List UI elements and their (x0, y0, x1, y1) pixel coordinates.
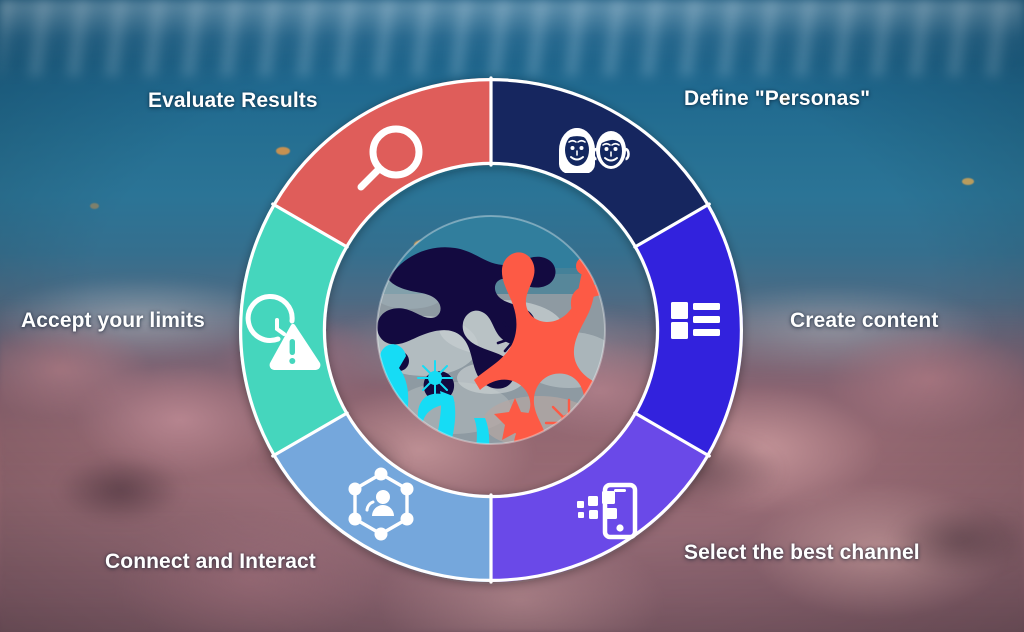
label-select-best-channel: Select the best channel (684, 541, 920, 565)
label-connect-and-interact: Connect and Interact (105, 550, 316, 574)
label-create-content: Create content (790, 309, 938, 333)
label-define-personas: Define "Personas" (684, 87, 870, 111)
slide-canvas: Evaluate Results Define "Personas" Creat… (0, 0, 1024, 632)
label-accept-your-limits: Accept your limits (21, 309, 205, 333)
process-wheel (239, 78, 743, 582)
logo-sea-urchin (418, 361, 452, 395)
label-evaluate-results: Evaluate Results (148, 89, 318, 113)
